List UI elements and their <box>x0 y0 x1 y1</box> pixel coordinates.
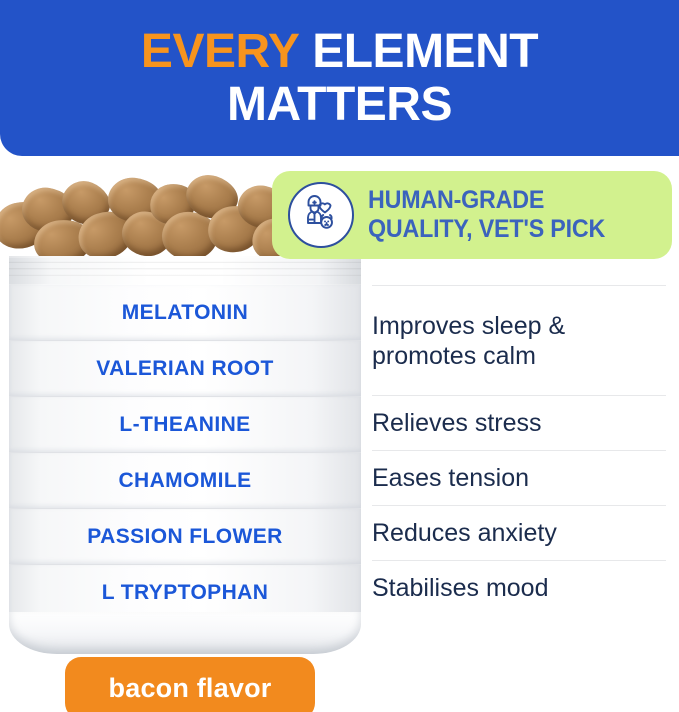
vet-doctor-dog-heart-icon <box>288 182 354 248</box>
ingredient-row: PASSION FLOWER <box>9 508 361 564</box>
ingredient-row: L-THEANINE <box>9 396 361 452</box>
benefit-text: Reduces anxiety <box>372 518 557 548</box>
ingredient-label: L-THEANINE <box>119 413 250 437</box>
benefit-text: Eases tension <box>372 463 529 493</box>
benefit-row: Improves sleep & promotes calm <box>372 285 666 395</box>
banner-highlight-word: EVERY <box>141 25 299 78</box>
ingredient-row: CHAMOMILE <box>9 452 361 508</box>
kibble-pile <box>0 168 300 266</box>
ingredient-row: MELATONIN <box>9 285 361 340</box>
badge-line-2: QUALITY, VET'S PICK <box>368 215 605 244</box>
jar-base <box>9 612 361 654</box>
ingredient-label: VALERIAN ROOT <box>96 357 273 381</box>
benefit-row: Eases tension <box>372 450 666 505</box>
benefit-row: Relieves stress <box>372 395 666 450</box>
ingredient-label: MELATONIN <box>122 301 248 325</box>
banner-line-1: EVERY ELEMENT <box>141 25 538 78</box>
benefit-text: Stabilises mood <box>372 573 548 603</box>
jar-rim <box>9 258 361 284</box>
product-infographic: EVERY ELEMENT MATTERS MELATONIN VALERIAN… <box>0 0 679 712</box>
badge-line-1: HUMAN-GRADE <box>368 186 605 215</box>
benefit-list: Improves sleep & promotes calm Relieves … <box>372 285 666 615</box>
banner-line-1-rest: ELEMENT <box>312 25 538 78</box>
benefit-row: Stabilises mood <box>372 560 666 615</box>
benefit-row: Reduces anxiety <box>372 505 666 560</box>
vet-quality-badge: HUMAN-GRADE QUALITY, VET'S PICK <box>272 171 672 259</box>
flavor-label-text: bacon flavor <box>109 673 272 704</box>
ingredient-row: VALERIAN ROOT <box>9 340 361 396</box>
ingredient-label: PASSION FLOWER <box>87 525 282 549</box>
benefit-text: Improves sleep & promotes calm <box>372 311 666 371</box>
ingredient-label: L TRYPTOPHAN <box>102 581 269 605</box>
banner-line-2: MATTERS <box>227 78 452 131</box>
flavor-label: bacon flavor <box>65 657 315 712</box>
ingredient-label: CHAMOMILE <box>118 469 251 493</box>
ingredient-list: MELATONIN VALERIAN ROOT L-THEANINE CHAMO… <box>9 285 361 620</box>
badge-text: HUMAN-GRADE QUALITY, VET'S PICK <box>368 186 605 244</box>
header-banner: EVERY ELEMENT MATTERS <box>0 0 679 156</box>
benefit-text: Relieves stress <box>372 408 542 438</box>
